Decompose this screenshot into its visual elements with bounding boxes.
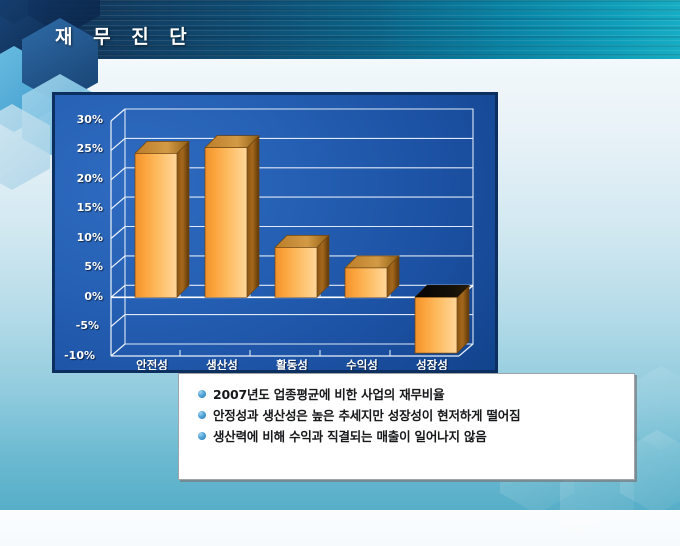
bullet-dot-icon bbox=[198, 411, 206, 419]
y-tick-label: -5% bbox=[59, 319, 99, 332]
list-item: 생산력에 비해 수익과 직결되는 매출이 일어나지 않음 bbox=[198, 427, 634, 446]
list-item-label: 2007년도 업종평균에 비한 사업의 재무비율 bbox=[213, 385, 444, 404]
bullet-dot-icon bbox=[198, 390, 206, 398]
bar-chart-svg bbox=[55, 95, 495, 370]
bar-활동성 bbox=[275, 235, 329, 297]
y-tick-label: 30% bbox=[63, 113, 103, 126]
notes-bullet-list: 2007년도 업종평균에 비한 사업의 재무비율 안정성과 생산성은 높은 추세… bbox=[179, 374, 634, 446]
y-tick-label: 5% bbox=[63, 260, 103, 273]
y-tick-label: 20% bbox=[63, 172, 103, 185]
bar-생산성 bbox=[205, 136, 259, 298]
y-tick-label: 15% bbox=[63, 201, 103, 214]
bar-안전성 bbox=[135, 141, 189, 297]
x-category-label: 성장성 bbox=[399, 357, 465, 373]
bar-수익성 bbox=[345, 256, 399, 297]
notes-textbox: 2007년도 업종평균에 비한 사업의 재무비율 안정성과 생산성은 높은 추세… bbox=[178, 373, 635, 480]
chart-panel: 30% 25% 20% 15% 10% 5% 0% -5% -10% 안전성 생… bbox=[52, 92, 498, 373]
y-tick-label: 25% bbox=[63, 142, 103, 155]
y-tick-label: -10% bbox=[55, 349, 95, 362]
chart-plot-area: 30% 25% 20% 15% 10% 5% 0% -5% -10% 안전성 생… bbox=[55, 95, 495, 370]
list-item-label: 안정성과 생산성은 높은 추세지만 성장성이 현저하게 떨어짐 bbox=[213, 406, 520, 425]
y-tick-label: 10% bbox=[63, 231, 103, 244]
bullet-dot-icon bbox=[198, 432, 206, 440]
list-item-label: 생산력에 비해 수익과 직결되는 매출이 일어나지 않음 bbox=[213, 427, 487, 446]
bar-성장성 bbox=[415, 285, 469, 353]
page-title: 재 무 진 단 bbox=[55, 22, 194, 49]
x-category-label: 활동성 bbox=[259, 357, 325, 373]
list-item: 2007년도 업종평균에 비한 사업의 재무비율 bbox=[198, 385, 634, 404]
x-category-label: 안전성 bbox=[119, 357, 185, 373]
x-category-label: 수익성 bbox=[329, 357, 395, 373]
y-tick-label: 0% bbox=[63, 290, 103, 303]
x-category-label: 생산성 bbox=[189, 357, 255, 373]
list-item: 안정성과 생산성은 높은 추세지만 성장성이 현저하게 떨어짐 bbox=[198, 406, 634, 425]
